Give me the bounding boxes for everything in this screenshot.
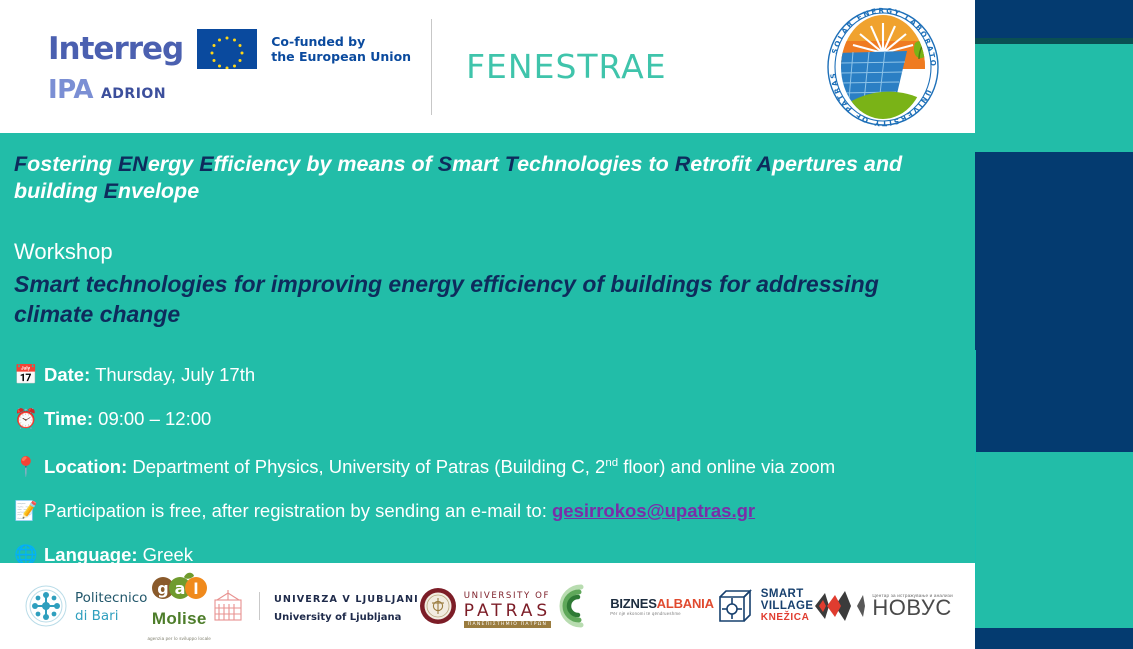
location-label: Location: [44, 456, 127, 477]
registration-email-link[interactable]: gesirrokos@upatras.gr [552, 500, 755, 521]
patras-text: UNIVERSITY OF PATRAS ΠΑΝΕΠΙΣΤΗΜΙΟ ΠΑΤΡΩΝ [464, 584, 551, 628]
patras-line2: PATRAS [464, 601, 551, 621]
svg-text:g: g [158, 579, 169, 598]
detail-row-registration: 📝 Participation is free, after registrat… [14, 499, 953, 524]
project-title-seg: T [505, 152, 517, 176]
project-title-seg: nvelope [118, 179, 199, 203]
language-label: Language: [44, 544, 138, 565]
smart-village-text: SMART VILLAGE KNEŽICA [761, 589, 814, 623]
calendar-icon: 📅 [14, 364, 44, 388]
gal-molise-mark-icon: g a l [151, 571, 207, 601]
location-value-before: Department of Physics, University of Pat… [132, 456, 605, 477]
molise-name: Molise [152, 609, 207, 629]
interreg-logo-group: Interreg [48, 29, 411, 105]
workshop-label: Workshop [14, 239, 953, 265]
politecnico-mark-icon [24, 584, 68, 628]
edge-band-navy-mid [975, 152, 1133, 452]
logo-university-of-patras: UNIVERSITY OF PATRAS ΠΑΝΕΠΙΣΤΗΜΙΟ ΠΑΤΡΩΝ [419, 584, 551, 628]
project-title-seg: ergy [148, 152, 199, 176]
eu-funding-line1: Co-funded by [271, 34, 365, 49]
novus-diamond-icon [813, 587, 865, 625]
eu-funding-line2: the European Union [271, 49, 411, 64]
logo-gal-molise: g a l Molise agenzia per lo sviluppo loc… [147, 571, 211, 641]
biznes-albania-text: BIZNESALBANIA Për një ekonomi të qëndrue… [610, 596, 714, 616]
map-pin-icon: 📍 [14, 456, 44, 480]
svg-text:l: l [194, 580, 199, 598]
logo-politecnico-di-bari: Politecnico di Bari [24, 584, 147, 628]
date-value: Thursday, July 17th [95, 364, 255, 385]
partner-logo-strip: Politecnico di Bari g a l Molise agenzia… [0, 563, 975, 649]
molise-subtitle: agenzia per lo sviluppo locale [147, 636, 211, 641]
edge-band-navy-bottom [975, 628, 1133, 649]
project-title-seg: R [675, 152, 691, 176]
detail-row-date: 📅 Date: Thursday, July 17th [14, 363, 953, 388]
politecnico-line1: Politecnico [75, 590, 147, 606]
biznes-albania-swirl-icon [551, 583, 603, 629]
location-value-after: floor) and online via zoom [618, 456, 835, 477]
smart-village-line2: VILLAGE [761, 601, 814, 613]
project-title-seg: EN [118, 152, 148, 176]
smart-village-cube-icon [714, 587, 754, 625]
registration-text: Participation is free, after registratio… [44, 500, 547, 521]
project-title-seg: E [199, 152, 213, 176]
novus-wordmark: НОВУС [872, 598, 952, 619]
event-details-list: 📅 Date: Thursday, July 17th ⏰ Time: 09:0… [14, 363, 953, 568]
detail-row-location: 📍 Location: Department of Physics, Unive… [14, 451, 953, 480]
interreg-wordmark: Interreg [48, 31, 183, 67]
patras-line3: ΠΑΝΕΠΙΣΤΗΜΙΟ ΠΑΤΡΩΝ [464, 621, 551, 628]
alarm-clock-icon: ⏰ [14, 408, 44, 432]
header-divider [431, 19, 432, 115]
ljubljana-text: UNIVERZA V LJUBLJANI University of Ljubl… [274, 588, 419, 624]
biznes-albania-wordmark: BIZNESALBANIA [610, 596, 714, 611]
biznes-albania-tagline: Për një ekonomi të qëndrueshme [610, 611, 681, 616]
poster-body: Fostering ENergy Efficiency by means of … [0, 133, 975, 563]
ljubljana-line2: University of Ljubljana [274, 612, 401, 623]
adrion-wordmark: ADRION [101, 86, 166, 102]
eu-funding-text: Co-funded by the European Union [271, 34, 411, 64]
location-ordinal-suffix: nd [605, 457, 618, 469]
date-label: Date: [44, 364, 90, 385]
project-title-seg: A [756, 152, 772, 176]
memo-icon: 📝 [14, 500, 44, 524]
logo-biznes-albania: BIZNESALBANIA Për një ekonomi të qëndrue… [551, 583, 714, 629]
edge-band-navy-top [975, 0, 1133, 38]
biznes-word: BIZNES [610, 596, 656, 611]
logo-novus: Центар за истражување и анализи НОВУС [813, 587, 952, 625]
smart-village-line3: KNEŽICA [761, 613, 814, 623]
svg-text:a: a [175, 579, 186, 598]
workshop-title: Smart technologies for improving energy … [14, 269, 953, 329]
language-value: Greek [143, 544, 193, 565]
ljubljana-divider [259, 592, 260, 620]
project-title-seg: fficiency by means of [214, 152, 438, 176]
novus-text: Центар за истражување и анализи НОВУС [872, 593, 952, 619]
politecnico-di-bari-text: Politecnico di Bari [75, 588, 147, 624]
detail-row-time: ⏰ Time: 09:00 – 12:00 [14, 407, 953, 432]
fenestrae-wordmark: FENESTRAE [466, 47, 667, 86]
project-title-seg: F [14, 152, 27, 176]
ljubljana-line1: UNIVERZA V LJUBLJANI [274, 594, 419, 605]
ipa-adrion-row: IPA ADRION [48, 75, 411, 105]
edge-band-teal-upper [975, 44, 1133, 152]
poster-header: Interreg [0, 0, 975, 133]
project-title-seg: mart [452, 152, 505, 176]
project-title-seg: etrofit [690, 152, 756, 176]
edge-band-teal-lower [975, 452, 1133, 628]
ljubljana-building-icon [211, 588, 245, 624]
politecnico-line2: di Bari [75, 608, 118, 624]
project-title-seg: E [104, 179, 118, 203]
time-label: Time: [44, 408, 93, 429]
poster-canvas: Interreg [0, 0, 1133, 649]
project-title-seg: echnologies to [517, 152, 675, 176]
eu-flag-icon [197, 29, 257, 69]
interreg-eu-row: Interreg [48, 29, 411, 69]
logo-univerza-v-ljubljani: UNIVERZA V LJUBLJANI University of Ljubl… [211, 588, 419, 624]
solar-energy-laboratory-logo: SOLAR ENERGY LABORATORY UNIVERSITY OF PA… [819, 7, 947, 127]
project-title: Fostering ENergy Efficiency by means of … [14, 151, 953, 205]
time-value: 09:00 – 12:00 [98, 408, 211, 429]
logo-smart-village-knezica: SMART VILLAGE KNEŽICA [714, 587, 814, 625]
patras-seal-icon [419, 587, 457, 625]
ipa-wordmark: IPA [48, 75, 93, 105]
project-title-seg: ostering [27, 152, 118, 176]
project-title-seg: S [438, 152, 452, 176]
patras-line1: UNIVERSITY OF [464, 591, 550, 601]
albania-word: ALBANIA [657, 596, 714, 611]
